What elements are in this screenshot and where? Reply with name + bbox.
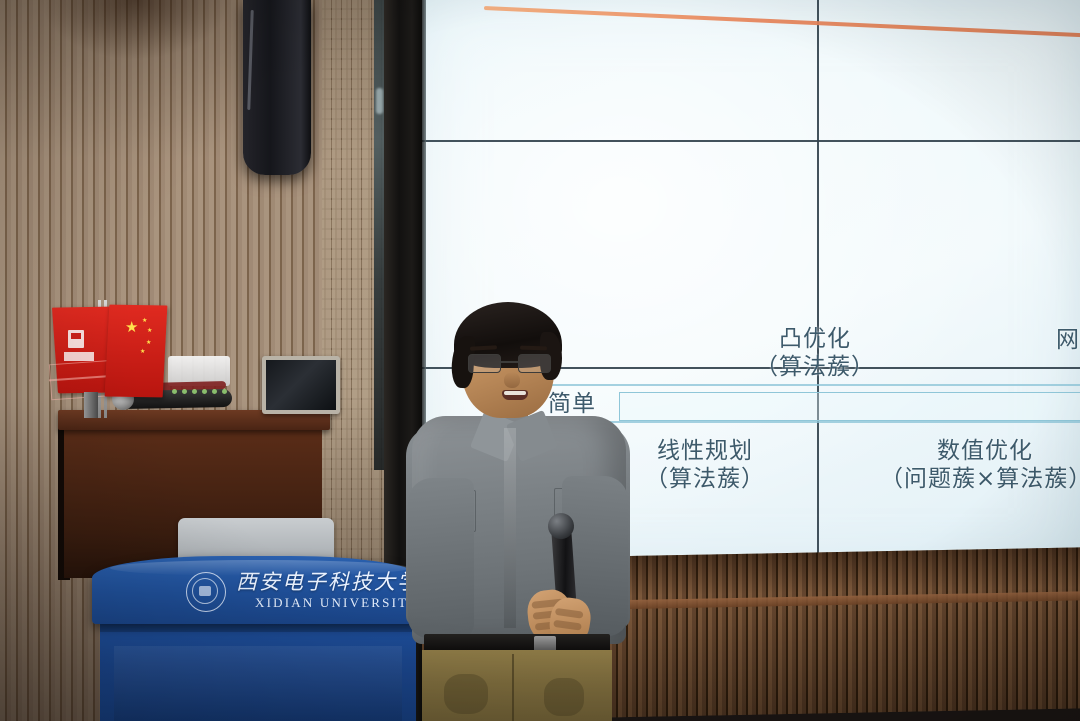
slide-label-convex-line1: 凸优化: [715, 325, 915, 353]
slide-label-num-line1: 数值优化: [880, 437, 1080, 465]
presenter-trouser-fold: [444, 674, 488, 714]
podium-body: [100, 618, 416, 721]
flag-small-star-icon: ★: [142, 318, 147, 324]
door-glass-reflection: [376, 88, 383, 114]
slide-vertical-axis: [817, 0, 819, 580]
presenter-trouser-fold: [544, 678, 584, 716]
eyeglasses-bridge: [499, 361, 518, 363]
podium-university-name-cn: 西安电子科技大学: [236, 566, 426, 596]
eyeglasses-lens-left: [468, 354, 501, 373]
flag-small-star-icon: ★: [147, 328, 152, 334]
monitor-screen: [266, 360, 336, 410]
slide-label-num-line2: （问题蔟×算法蔟）: [880, 465, 1080, 493]
presenter-shirt-placket: [504, 428, 516, 628]
flag-small-star-icon: ★: [140, 349, 145, 355]
eyeglasses-lens-right: [518, 354, 551, 373]
slide-label-lp-line1: 线性规划: [610, 437, 800, 465]
lecture-photo-scene: Stuart Russell Peter Norvig Artificial I…: [0, 0, 1080, 721]
presenter-nose: [504, 372, 520, 388]
flag-small-star-icon: ★: [146, 340, 151, 346]
slide-label-numerical-optimization: 数值优化 （问题蔟×算法蔟）: [880, 437, 1080, 493]
ceiling-shadow: [40, 0, 230, 60]
slide-cyan-rule-bottom: [572, 421, 1080, 423]
presenter: [404, 298, 634, 721]
xidian-university-seal-icon: [186, 572, 226, 612]
slide-label-convex-optimization: 凸优化 （算法蔟）: [715, 325, 915, 381]
slide-label-network-truncated: 网: [1056, 326, 1080, 354]
slide-label-linear-programming: 线性规划 （算法蔟）: [610, 437, 800, 493]
control-keypad[interactable]: [170, 384, 238, 400]
presenter-mouth: [502, 390, 528, 400]
flag-large-star-icon: ★: [125, 320, 138, 335]
slide-label-lp-line2: （算法蔟）: [610, 465, 800, 493]
slide-empty-box: [619, 392, 1080, 421]
flag-stand-base: [84, 392, 98, 418]
presenter-trouser-seam: [512, 654, 514, 721]
slide-label-convex-line2: （算法蔟）: [715, 353, 915, 381]
eyeglasses-icon: [466, 354, 556, 372]
wall-monitor: [262, 356, 340, 414]
organization-flag-emblem: [68, 330, 84, 348]
wall-speaker-icon: [243, 0, 311, 175]
presenter-left-arm: [408, 478, 474, 638]
slide-horizontal-line-top: [422, 140, 1080, 142]
organization-flag-wordmark: [64, 352, 94, 361]
